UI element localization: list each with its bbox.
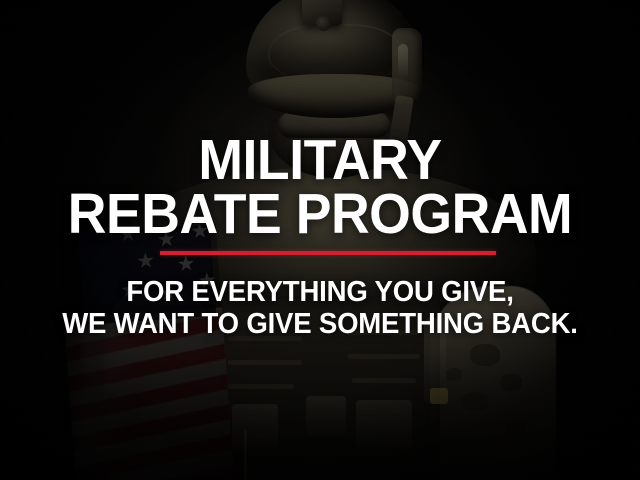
headline-line-1: MILITARY	[19, 132, 621, 188]
subheadline-line-1: FOR EVERYTHING YOU GIVE,	[16, 278, 624, 307]
red-divider-rule	[160, 251, 496, 255]
subheadline-line-2: WE WANT TO GIVE SOMETHING BACK.	[16, 310, 624, 339]
military-rebate-banner: ★ ★ ★ ★ ★ ★ ★ ★ MILITARY REBATE PROGRAM …	[0, 0, 640, 480]
text-overlay: MILITARY REBATE PROGRAM FOR EVERYTHING Y…	[0, 0, 640, 480]
headline-line-2: REBATE PROGRAM	[19, 186, 621, 242]
